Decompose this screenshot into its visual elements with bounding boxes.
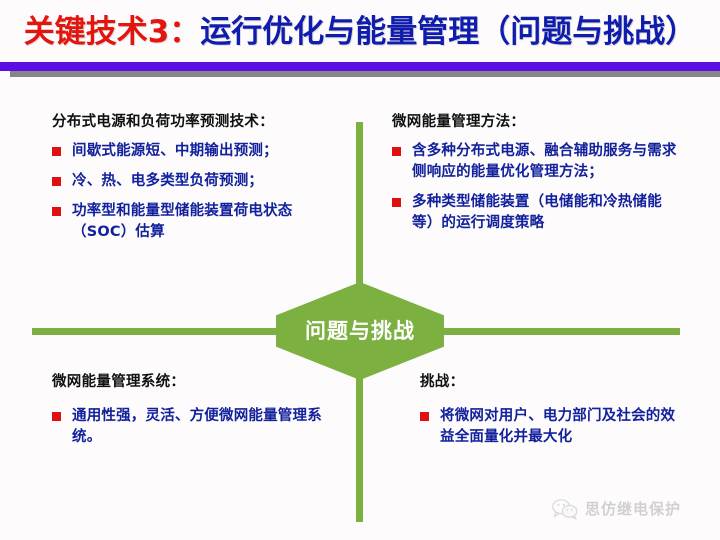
list-item: 将微网对用户、电力部门及社会的效益全面量化并最大化 (420, 406, 682, 448)
slide-canvas: 关键技术3：运行优化与能量管理（问题与挑战） 问题与挑战 分布式电源和负荷功率预… (0, 0, 720, 540)
title-accent-bar-shadow (10, 71, 720, 77)
quadrant-bottom-right: 挑战： 将微网对用户、电力部门及社会的效益全面量化并最大化 (420, 372, 682, 448)
connector-line-horizontal-left (32, 328, 290, 335)
square-bullet-icon (392, 198, 401, 207)
list-item: 多种类型储能装置（电储能和冷热储能等）的运行调度策略 (392, 192, 682, 234)
quadrant-top-left-heading: 分布式电源和负荷功率预测技术： (52, 112, 344, 132)
list-item-text: 间歇式能源短、中期输出预测； (72, 143, 278, 159)
quadrant-top-right-list: 含多种分布式电源、融合辅助服务与需求侧响应的能量优化管理方法； 多种类型储能装置… (392, 141, 682, 234)
list-item-text: 功率型和能量型储能装置荷电状态（SOC）估算 (72, 203, 293, 240)
list-item: 功率型和能量型储能装置荷电状态（SOC）估算 (52, 201, 344, 243)
list-item-text: 多种类型储能装置（电储能和冷热储能等）的运行调度策略 (412, 194, 662, 231)
connector-line-vertical-top (356, 122, 363, 304)
page-title-main: 运行优化与能量管理（问题与挑战） (200, 14, 696, 50)
page-title-prefix: 关键技术3： (24, 14, 201, 50)
page-title: 关键技术3：运行优化与能量管理（问题与挑战） (0, 10, 720, 62)
quadrant-top-right-heading: 微网能量管理方法： (392, 112, 682, 132)
quadrant-bottom-left-list: 通用性强，灵活、方便微网能量管理系统。 (52, 406, 344, 448)
title-accent-bar (0, 62, 720, 71)
watermark: 思仿继电保护 (552, 498, 681, 520)
list-item-text: 通用性强，灵活、方便微网能量管理系统。 (72, 408, 322, 445)
square-bullet-icon (52, 147, 61, 156)
quadrant-bottom-right-heading: 挑战： (420, 372, 682, 392)
center-banner-label: 问题与挑战 (305, 321, 415, 342)
square-bullet-icon (392, 147, 401, 156)
square-bullet-icon (52, 177, 61, 186)
list-item: 含多种分布式电源、融合辅助服务与需求侧响应的能量优化管理方法； (392, 141, 682, 183)
quadrant-bottom-left-heading: 微网能量管理系统： (52, 372, 344, 392)
quadrant-bottom-left: 微网能量管理系统： 通用性强，灵活、方便微网能量管理系统。 (52, 372, 344, 448)
list-item-text: 含多种分布式电源、融合辅助服务与需求侧响应的能量优化管理方法； (412, 143, 677, 180)
square-bullet-icon (420, 412, 429, 421)
quadrant-top-left-list: 间歇式能源短、中期输出预测； 冷、热、电多类型负荷预测； 功率型和能量型储能装置… (52, 141, 344, 243)
connector-line-vertical-bottom (356, 370, 363, 522)
quadrant-top-right: 微网能量管理方法： 含多种分布式电源、融合辅助服务与需求侧响应的能量优化管理方法… (392, 112, 682, 234)
square-bullet-icon (52, 207, 61, 216)
list-item-text: 冷、热、电多类型负荷预测； (72, 173, 263, 189)
connector-line-horizontal-right (428, 328, 680, 335)
quadrant-top-left: 分布式电源和负荷功率预测技术： 间歇式能源短、中期输出预测； 冷、热、电多类型负… (52, 112, 344, 243)
square-bullet-icon (52, 412, 61, 421)
center-hexagon-banner: 问题与挑战 (276, 282, 444, 380)
wechat-icon (552, 498, 578, 520)
list-item: 间歇式能源短、中期输出预测； (52, 141, 344, 162)
list-item: 通用性强，灵活、方便微网能量管理系统。 (52, 406, 344, 448)
quadrant-bottom-right-list: 将微网对用户、电力部门及社会的效益全面量化并最大化 (420, 406, 682, 448)
list-item: 冷、热、电多类型负荷预测； (52, 171, 344, 192)
watermark-label: 思仿继电保护 (585, 502, 681, 517)
list-item-text: 将微网对用户、电力部门及社会的效益全面量化并最大化 (440, 408, 675, 445)
